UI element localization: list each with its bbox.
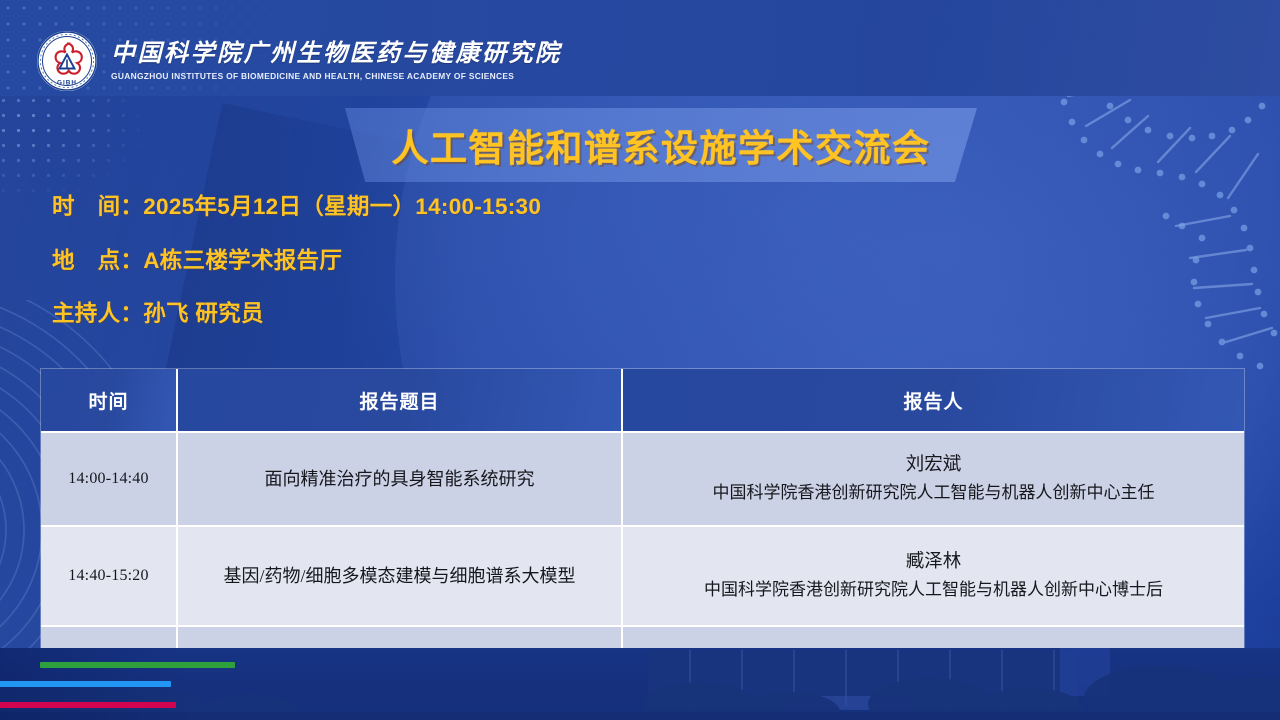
info-value-time: 2025年5月12日（星期一）14:00-15:30 <box>143 196 541 219</box>
page-title: 人工智能和谱系设施学术交流会 <box>345 108 977 182</box>
giizbmh-circular-emblem-icon: GIBH <box>36 30 98 92</box>
accent-bar-red <box>0 702 176 708</box>
info-label-location: 地 点： <box>52 250 143 273</box>
info-line-host: 主持人：孙飞 研究员 <box>52 303 952 326</box>
column-header-time: 时间 <box>41 369 177 432</box>
accent-bar-green <box>40 662 235 668</box>
cell-topic: 基因/药物/细胞多模态建模与细胞谱系大模型 <box>177 526 622 626</box>
info-value-location: A栋三楼学术报告厅 <box>143 250 342 273</box>
accent-bars <box>0 648 640 720</box>
column-header-topic: 报告题目 <box>177 369 622 432</box>
org-name-en: GUANGZHOU INSTITUTES OF BIOMEDICINE AND … <box>111 71 562 81</box>
accent-bar-blue <box>0 681 171 687</box>
campus-building-photo <box>0 648 1280 720</box>
svg-text:GIBH: GIBH <box>57 79 77 86</box>
info-label-time: 时 间： <box>52 196 143 219</box>
cell-speaker: 刘宏斌 中国科学院香港创新研究院人工智能与机器人创新中心主任 <box>622 432 1244 526</box>
poster-canvas: GIBH 中国科学院广州生物医药与健康研究院 GUANGZHOU INSTITU… <box>0 0 1280 720</box>
cell-topic: 面向精准治疗的具身智能系统研究 <box>177 432 622 526</box>
event-info-block: 时 间：2025年5月12日（星期一）14:00-15:30 地 点：A栋三楼学… <box>52 196 952 357</box>
table-row: 14:00-14:40 面向精准治疗的具身智能系统研究 刘宏斌 中国科学院香港创… <box>41 432 1244 526</box>
speaker-name: 刘宏斌 <box>631 451 1236 480</box>
institute-logo: GIBH 中国科学院广州生物医药与健康研究院 GUANGZHOU INSTITU… <box>36 30 562 92</box>
info-value-host: 孙飞 研究员 <box>143 303 264 326</box>
table-row: 14:40-15:20 基因/药物/细胞多模态建模与细胞谱系大模型 臧泽林 中国… <box>41 526 1244 626</box>
org-name-cn: 中国科学院广州生物医药与健康研究院 <box>111 41 562 68</box>
speaker-affiliation: 中国科学院香港创新研究院人工智能与机器人创新中心主任 <box>631 480 1236 506</box>
cell-time: 14:00-14:40 <box>41 432 177 526</box>
column-header-speaker: 报告人 <box>622 369 1244 432</box>
cell-time: 14:40-15:20 <box>41 526 177 626</box>
header-band-sheen <box>920 0 1280 96</box>
cell-speaker: 臧泽林 中国科学院香港创新研究院人工智能与机器人创新中心博士后 <box>622 526 1244 626</box>
speaker-affiliation: 中国科学院香港创新研究院人工智能与机器人创新中心博士后 <box>631 577 1236 603</box>
info-line-time: 时 间：2025年5月12日（星期一）14:00-15:30 <box>52 196 952 219</box>
info-line-location: 地 点：A栋三楼学术报告厅 <box>52 250 952 273</box>
info-label-host: 主持人： <box>52 303 143 326</box>
speaker-name: 臧泽林 <box>631 548 1236 577</box>
table-header-row: 时间 报告题目 报告人 <box>41 369 1244 432</box>
dot-grid-icon <box>0 78 176 198</box>
